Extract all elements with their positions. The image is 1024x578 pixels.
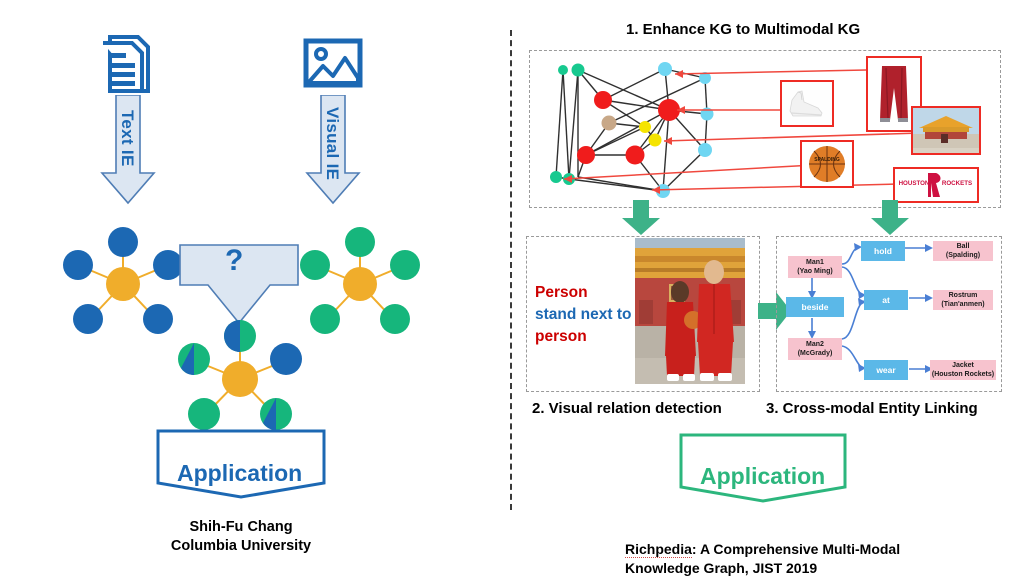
document-icon — [98, 33, 152, 100]
entity-box-man2: Man2(McGrady) — [788, 338, 842, 360]
visual-relation-predicate: stand next to — [535, 304, 631, 326]
question-mark-label: ? — [225, 244, 243, 278]
entity-man1-line2: (Yao Ming) — [797, 268, 832, 275]
flow-arrow-right — [869, 200, 911, 241]
entity-box-man1: Man1(Yao Ming) — [788, 256, 842, 278]
svg-text:SPALDING: SPALDING — [814, 157, 840, 163]
entity-box-ball: Ball(Spalding) — [933, 241, 993, 261]
white-shoe-thumbnail — [780, 80, 834, 127]
entity-rostrum-line2: (Tian'anmen) — [941, 301, 984, 308]
step1-title: 1. Enhance KG to Multimodal KG — [626, 21, 860, 38]
relation-box-wear: wear — [864, 360, 908, 380]
tiananmen-gate-thumbnail — [911, 106, 981, 155]
entity-ball-line2: (Spalding) — [946, 252, 980, 259]
left-caption: Shih-Fu Chang Columbia University — [141, 518, 341, 556]
entity-box-jacket: Jacket(Houston Rockets) — [930, 360, 996, 380]
entity-ball-line1: Ball — [957, 243, 970, 250]
citation-first-word: Richpedia — [625, 541, 692, 558]
knowledge-graph — [545, 55, 795, 210]
panel-divider — [510, 30, 512, 510]
application-label-right: Application — [700, 463, 825, 490]
entity-jacket-line2: (Houston Rockets) — [932, 371, 994, 378]
svg-text:HOUSTON: HOUSTON — [899, 180, 930, 187]
merged-kg-star-graph — [168, 312, 313, 442]
svg-text:ROCKETS: ROCKETS — [942, 180, 972, 187]
entity-man2-line1: Man2 — [806, 341, 824, 348]
visual-kg-star-graph — [295, 222, 425, 342]
entity-man1-line1: Man1 — [806, 259, 824, 266]
flow-arrow-left — [620, 200, 662, 241]
entity-box-rostrum: Rostrum(Tian'anmen) — [933, 290, 993, 310]
relation-box-beside: beside — [786, 297, 844, 317]
application-label-left: Application — [177, 460, 302, 487]
step3-title: 3. Cross-modal Entity Linking — [766, 400, 978, 417]
entity-rostrum-line1: Rostrum — [949, 292, 978, 299]
visual-relation-subject: Person — [535, 282, 588, 304]
citation-text: Richpedia: A Comprehensive Multi-ModalKn… — [625, 521, 965, 578]
spalding-basketball-thumbnail: SPALDING — [800, 140, 854, 188]
relation-box-at: at — [864, 290, 908, 310]
text-ie-label: Text IE — [117, 110, 137, 167]
entity-jacket-line1: Jacket — [952, 362, 974, 369]
visual-relation-object: person — [535, 326, 587, 348]
step2-title: 2. Visual relation detection — [532, 400, 722, 417]
houston-rockets-logo-thumbnail: HOUSTON ROCKETS — [893, 167, 979, 203]
yao-ming-mcgrady-photo — [635, 238, 745, 384]
picture-icon — [303, 38, 363, 93]
visual-ie-label: Visual IE — [322, 107, 342, 180]
relation-box-hold: hold — [861, 241, 905, 261]
entity-man2-line2: (McGrady) — [798, 350, 833, 357]
